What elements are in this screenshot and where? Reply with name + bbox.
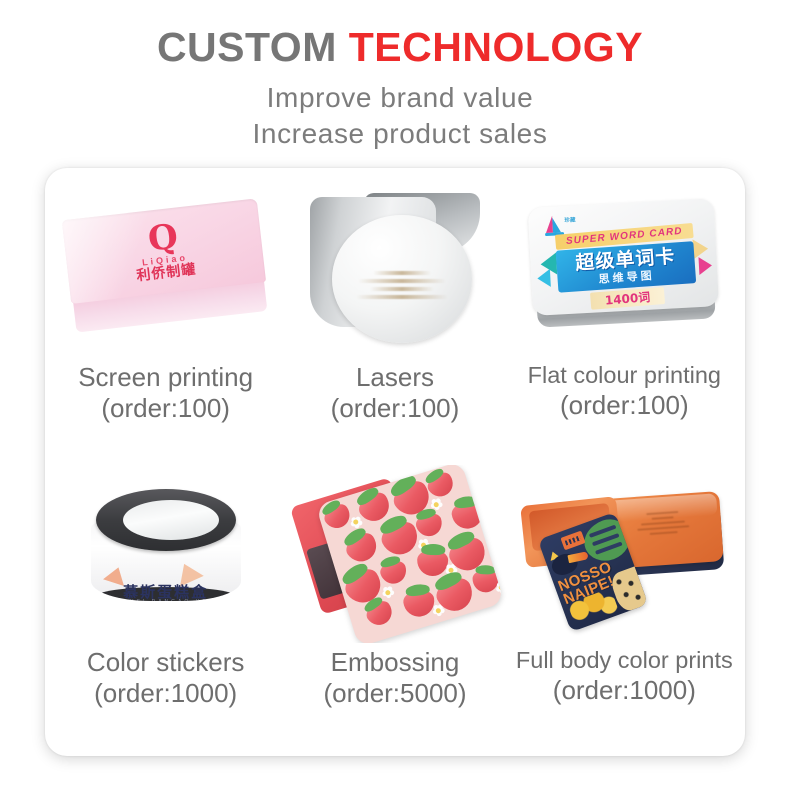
round-sticker-tin-image: 慕斯蛋糕盒 MUSI DANGAO HE [91,489,241,619]
sail-blue [553,217,562,232]
nosso-naipe-tin-image: NOSSO NAIPE! [524,479,724,629]
tin-lid-ring [96,489,236,551]
thumbnail-color-stickers: 慕斯蛋糕盒 MUSI DANGAO HE [51,465,280,643]
tile-label: Lasers [331,362,460,393]
pink-tin-box-image: Q LiQiao 利侨制罐 [61,198,269,339]
word-count-badge: 1400词 [590,287,665,310]
thumbnail-lasers [280,180,509,358]
emboss-line [642,520,685,526]
tile-screen-printing[interactable]: Q LiQiao 利侨制罐 Screen printing (order:100… [51,180,280,465]
tile-order: (order:100) [528,390,721,421]
header: CUSTOM TECHNOLOGY Improve brand value In… [0,0,800,152]
tile-label: Flat colour printing [528,362,721,390]
emboss-line [650,531,678,535]
tile-label: Full body color prints [516,647,733,675]
tile-order: (order:100) [78,393,253,424]
subtitle-line-2: Increase product sales [0,116,800,152]
round-tin-lid [332,215,472,343]
thumbnail-flat-colour-printing: 珍藏 SUPER WORD CARD 超级单词卡 思维导图 [510,180,739,358]
sticker-label-roman: MUSI DANGAO HE [91,599,241,601]
subtitle: Improve brand value Increase product sal… [0,80,800,152]
promo-banner: CUSTOM TECHNOLOGY Improve brand value In… [0,0,800,800]
strawberry-motif [363,597,401,636]
tile-label: Color stickers [87,647,244,678]
product-card: Q LiQiao 利侨制罐 Screen printing (order:100… [45,168,745,756]
tile-lasers[interactable]: Lasers (order:100) [280,180,509,465]
tile-label: Screen printing [78,362,253,393]
tile-embossing[interactable]: Embossing (order:5000) [280,465,509,750]
caption-lasers: Lasers (order:100) [331,362,460,423]
blossom-icon [480,515,494,529]
blossom-icon [349,516,363,530]
thumbnail-full-body-color-prints: NOSSO NAIPE! [510,465,739,643]
tile-order: (order:5000) [323,678,466,709]
page-title: CUSTOM TECHNOLOGY [0,26,800,69]
tile-order: (order:100) [331,393,460,424]
strawberry-tin-image [300,474,490,634]
strawberry-leaf [421,544,445,555]
emboss-line [646,510,678,515]
tin-lid: 珍藏 SUPER WORD CARD 超级单词卡 思维导图 [528,198,719,316]
thumbnail-embossing [280,465,509,643]
caption-flat-colour-printing: Flat colour printing (order:100) [528,362,721,420]
emboss-line [638,525,690,531]
product-grid: Q LiQiao 利侨制罐 Screen printing (order:100… [45,168,745,756]
sticker-label-chinese: 慕斯蛋糕盒 [91,581,241,601]
word-card-artwork: SUPER WORD CARD 超级单词卡 思维导图 1400词 [555,225,697,310]
laser-etched-text [354,267,450,303]
caption-full-body-color-prints: Full body color prints (order:1000) [516,647,733,705]
etch-line [356,295,448,299]
tile-color-stickers[interactable]: 慕斯蛋糕盒 MUSI DANGAO HE Color stickers (ord… [51,465,280,750]
toucan-beak [568,551,589,563]
tile-label: Embossing [323,647,466,678]
emboss-line [652,516,674,520]
etch-line [358,279,446,283]
caption-embossing: Embossing (order:5000) [323,647,466,708]
caption-color-stickers: Color stickers (order:1000) [87,647,244,708]
clear-window [123,500,219,540]
pattern-tag [561,531,586,551]
chevron-cyan [537,269,551,288]
tile-flat-colour-printing[interactable]: 珍藏 SUPER WORD CARD 超级单词卡 思维导图 [510,180,739,465]
tile-full-body-color-prints[interactable]: NOSSO NAIPE! Full body color prints (ord… [510,465,739,750]
title-part-technology: TECHNOLOGY [349,24,643,70]
title-part-custom: CUSTOM [157,24,337,70]
tile-order: (order:1000) [87,678,244,709]
strawberry-leaf [475,565,495,574]
word-card-tin-image: 珍藏 SUPER WORD CARD 超级单词卡 思维导图 [528,198,721,340]
caption-screen-printing: Screen printing (order:100) [78,362,253,423]
etch-line [370,287,433,291]
subtitle-line-1: Improve brand value [0,80,800,116]
tile-order: (order:1000) [516,675,733,706]
blue-chevron-panel: 超级单词卡 思维导图 [556,241,697,293]
chevron-pink [699,256,713,275]
logo-label: 珍藏 [565,217,577,225]
thumbnail-screen-printing: Q LiQiao 利侨制罐 [51,180,280,358]
etch-line [373,271,431,275]
embossed-text-lines [632,507,694,539]
laser-tin-image [306,191,484,347]
liqiao-logo: Q LiQiao 利侨制罐 [130,218,196,283]
